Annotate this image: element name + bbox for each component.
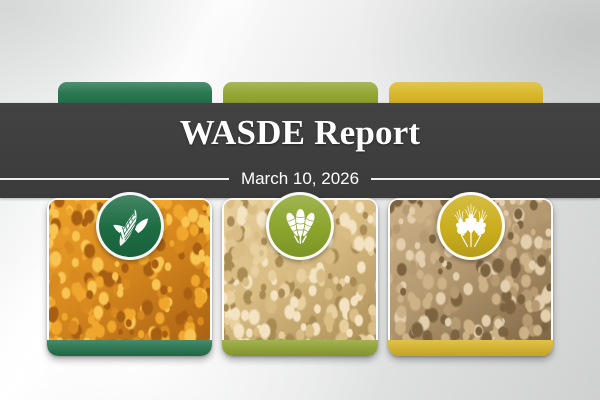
wasde-report-poster: WASDE Report March 10, 2026 — [0, 0, 600, 400]
corn-card-footer — [47, 340, 212, 356]
wheat-card-footer-gloss — [388, 340, 553, 356]
date-row: March 10, 2026 — [0, 167, 600, 191]
report-date: March 10, 2026 — [229, 170, 371, 187]
title-banner: WASDE Report March 10, 2026 — [0, 103, 600, 198]
wheat-card-footer — [388, 340, 553, 356]
corn-card-footer-gloss — [47, 340, 212, 356]
corn-cob-icon — [96, 192, 164, 260]
wheat-stalks-icon — [437, 192, 505, 260]
soybean-card-footer-gloss — [222, 340, 378, 356]
date-rule-right — [371, 178, 600, 180]
date-rule-left — [0, 178, 229, 180]
soybean-card-footer — [222, 340, 378, 356]
page-title: WASDE Report — [0, 113, 600, 153]
soybean-pods-icon — [266, 192, 334, 260]
